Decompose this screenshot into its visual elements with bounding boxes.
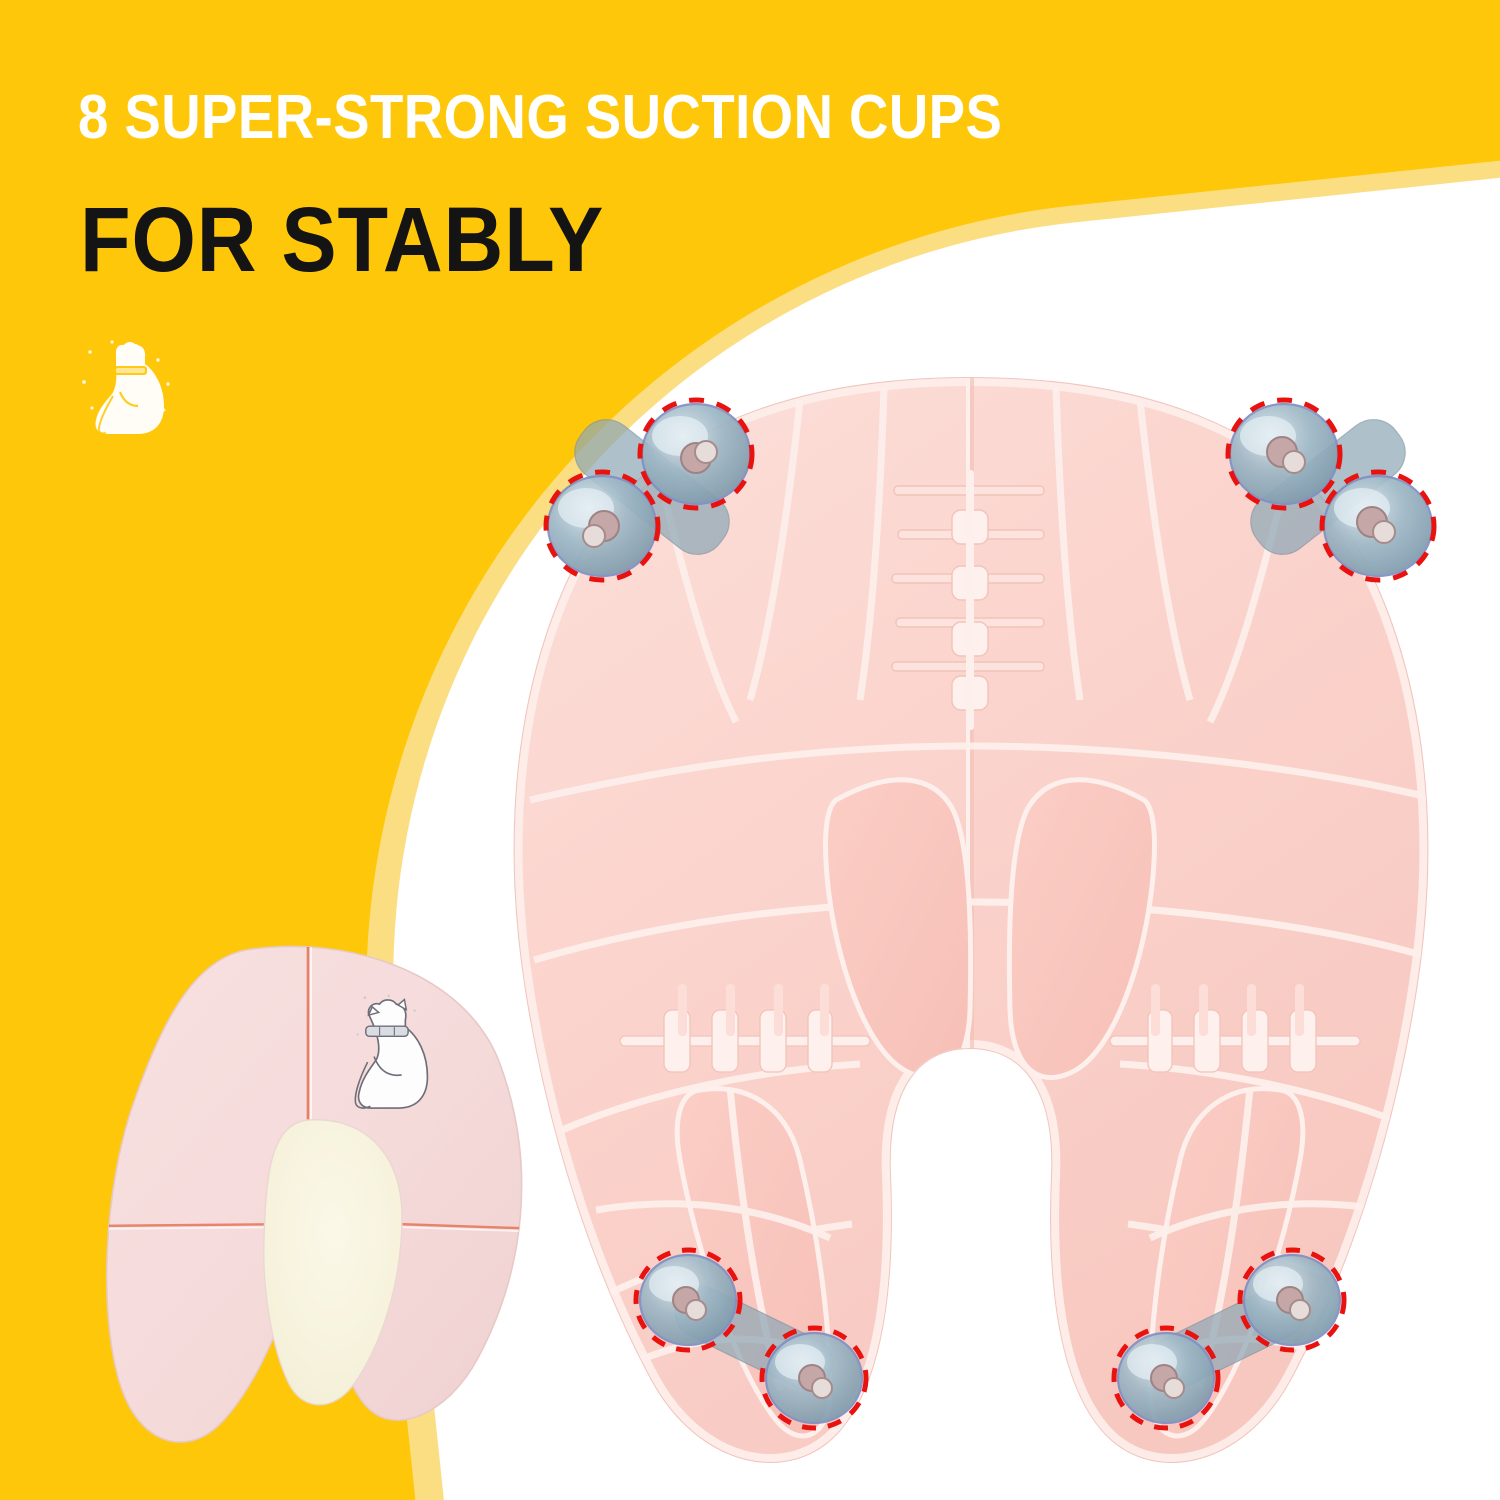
suction-cup [1230,404,1338,504]
folded-product-image [96,938,566,1458]
suction-cup [548,476,656,576]
suction-cup [640,1255,736,1345]
suction-cup [1324,476,1432,576]
product-name: Foldable Toilet Training Seat Cover [0,0,1,1]
folded-product-body [96,938,566,1442]
headline-secondary: FOR STABLY [80,188,604,293]
suction-cup [642,404,750,504]
suction-cup [1118,1333,1214,1423]
suction-cup [766,1333,862,1423]
product-marketing-banner: 8 SUPER-STRONG SUCTION CUPS FOR STABLY [0,0,1500,1500]
suction-cup [1244,1255,1340,1345]
sitting-bear-logo [72,330,192,448]
folded-product-name: Folded Toilet Seat Cover [0,0,1,1]
headline-primary: 8 SUPER-STRONG SUCTION CUPS [78,82,1002,153]
unfolded-product-image [500,370,1480,1480]
